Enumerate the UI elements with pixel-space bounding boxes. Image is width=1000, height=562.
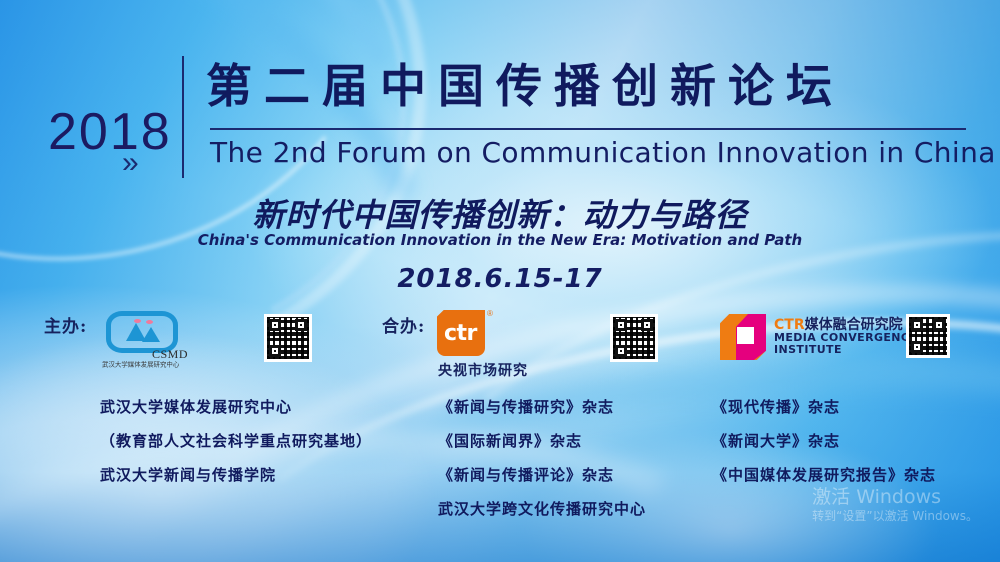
mci-name-english: MEDIA CONVERGENCEINSTITUTE [774,332,917,356]
windows-activation-watermark: 激活 Windows 转到“设置”以激活 Windows。 [812,486,978,524]
ctr-mark-shape: ctr [437,310,485,356]
theme-english: China's Communication Innovation in the … [0,231,1000,249]
page-title: 第二届中国传播创新论坛 [206,50,844,116]
theme-chinese: 新时代中国传播创新：动力与路径 [0,190,1000,236]
double-chevron-right-icon: » [122,148,139,178]
mci-cube-white [737,327,754,344]
host-label: 主办: [44,312,87,337]
qr-finder-icon [269,319,281,331]
page-title-english: The 2nd Forum on Communication Innovatio… [210,136,996,169]
qr-finder-icon [269,345,281,357]
organizer-column-left: 武汉大学媒体发展研究中心 （教育部人文社会科学重点研究基地） 武汉大学新闻与传播… [100,390,372,492]
list-item: 《新闻与传播评论》杂志 [438,458,646,492]
qr-finder-icon [911,319,923,331]
vertical-divider [182,56,184,178]
year-label: 2018 [48,102,172,162]
qr-finder-icon [615,345,627,357]
csmd-logo: CSMD 武汉大学媒体发展研究中心 [100,311,192,369]
ctr-name-chinese: 央视市场研究 [438,360,528,380]
watermark-line-2: 转到“设置”以激活 Windows。 [812,508,978,524]
qr-finder-icon [615,319,627,331]
organizer-column-right: 《现代传播》杂志 《新闻大学》杂志 《中国媒体发展研究报告》杂志 [712,390,936,492]
csmd-peak-shape [142,327,160,342]
mci-logo: CTR媒体融合研究院 MEDIA CONVERGENCEINSTITUTE [720,312,910,366]
qr-code-co-organizer[interactable] [610,314,658,362]
list-item: 武汉大学跨文化传播研究中心 [438,492,646,526]
qr-code-host[interactable] [264,314,312,362]
ctr-wordmark: ctr [444,321,477,346]
conference-poster: 2018 » 第二届中国传播创新论坛 The 2nd Forum on Comm… [0,0,1000,562]
list-item: 武汉大学新闻与传播学院 [100,458,372,492]
csmd-bird-icon [146,320,153,324]
qr-code-mci[interactable] [906,314,950,358]
csmd-bird-icon [134,319,141,323]
co-organizer-label: 合办: [382,312,425,337]
event-date: 2018.6.15-17 [0,264,1000,294]
qr-finder-icon [641,319,653,331]
list-item: 武汉大学媒体发展研究中心 [100,390,372,424]
title-rule [210,128,966,130]
list-item: 《现代传播》杂志 [712,390,936,424]
registered-trademark-icon: ® [487,309,493,318]
csmd-subtitle: 武汉大学媒体发展研究中心 [102,360,179,369]
mci-name-english-2: INSTITUTE [774,343,842,356]
list-item: 《新闻大学》杂志 [712,424,936,458]
poster-header: 2018 » 第二届中国传播创新论坛 The 2nd Forum on Comm… [0,48,1000,178]
list-item: 《新闻与传播研究》杂志 [438,390,646,424]
qr-finder-icon [933,319,945,331]
qr-finder-icon [911,341,923,353]
qr-finder-icon [295,319,307,331]
ctr-logo: ctr ® 央视市场研究 [437,310,557,380]
watermark-line-1: 激活 Windows [812,486,978,508]
organizer-column-middle: 《新闻与传播研究》杂志 《国际新闻界》杂志 《新闻与传播评论》杂志 武汉大学跨文… [438,390,646,526]
mci-cube-icon [720,314,766,360]
list-item: 《国际新闻界》杂志 [438,424,646,458]
list-item: （教育部人文社会科学重点研究基地） [100,424,372,458]
